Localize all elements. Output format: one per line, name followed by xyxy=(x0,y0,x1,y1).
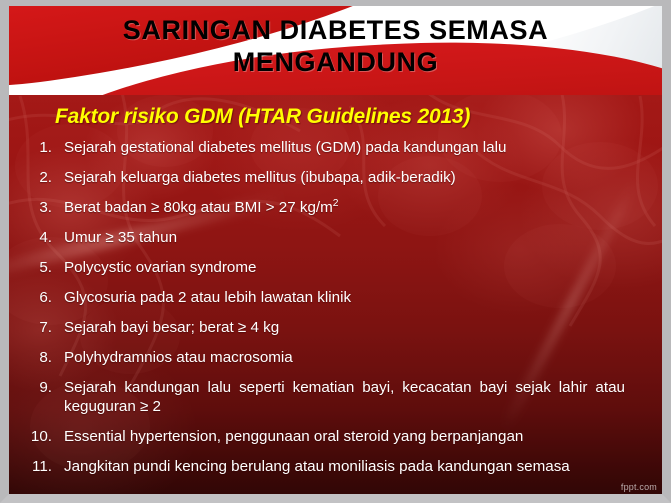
list-item: 2.Sejarah keluarga diabetes mellitus (ib… xyxy=(28,168,643,187)
list-item-text: Glycosuria pada 2 atau lebih lawatan kli… xyxy=(64,288,643,307)
list-item: 9.Sejarah kandungan lalu seperti kematia… xyxy=(28,378,643,416)
list-item-number: 9. xyxy=(28,378,64,397)
list-item-text: Sejarah kandungan lalu seperti kematian … xyxy=(64,378,643,416)
presentation-slide: SARINGAN DIABETES SEMASA MENGANDUNG Fakt… xyxy=(0,0,671,503)
list-item-number: 11. xyxy=(28,457,64,476)
risk-factor-list: 1.Sejarah gestational diabetes mellitus … xyxy=(0,138,671,476)
list-item: 10.Essential hypertension, penggunaan or… xyxy=(28,427,643,446)
list-item: 8.Polyhydramnios atau macrosomia xyxy=(28,348,643,367)
list-item: 7.Sejarah bayi besar; berat ≥ 4 kg xyxy=(28,318,643,337)
list-item-text: Polyhydramnios atau macrosomia xyxy=(64,348,643,367)
slide-content: Faktor risiko GDM (HTAR Guidelines 2013)… xyxy=(0,104,671,487)
list-item: 1.Sejarah gestational diabetes mellitus … xyxy=(28,138,643,157)
list-item: 3.Berat badan ≥ 80kg atau BMI > 27 kg/m2 xyxy=(28,198,643,217)
list-item-number: 3. xyxy=(28,198,64,217)
list-item-number: 10. xyxy=(28,427,64,446)
list-item-number: 6. xyxy=(28,288,64,307)
list-item-number: 4. xyxy=(28,228,64,247)
list-item-text: Jangkitan pundi kencing berulang atau mo… xyxy=(64,457,643,476)
list-item-text: Sejarah gestational diabetes mellitus (G… xyxy=(64,138,643,157)
list-item: 11.Jangkitan pundi kencing berulang atau… xyxy=(28,457,643,476)
list-item-text: Umur ≥ 35 tahun xyxy=(64,228,643,247)
list-item-number: 7. xyxy=(28,318,64,337)
list-item-text: Berat badan ≥ 80kg atau BMI > 27 kg/m2 xyxy=(64,198,643,217)
list-item-number: 2. xyxy=(28,168,64,187)
watermark-label: fppt.com xyxy=(621,482,657,492)
superscript: 2 xyxy=(333,198,339,209)
list-item-number: 8. xyxy=(28,348,64,367)
list-item-text: Polycystic ovarian syndrome xyxy=(64,258,643,277)
list-item-text: Sejarah bayi besar; berat ≥ 4 kg xyxy=(64,318,643,337)
content-subtitle: Faktor risiko GDM (HTAR Guidelines 2013) xyxy=(55,104,671,130)
list-item-number: 1. xyxy=(28,138,64,157)
list-item: 6.Glycosuria pada 2 atau lebih lawatan k… xyxy=(28,288,643,307)
list-item-text: Essential hypertension, penggunaan oral … xyxy=(64,427,643,446)
list-item: 4.Umur ≥ 35 tahun xyxy=(28,228,643,247)
slide-title: SARINGAN DIABETES SEMASA MENGANDUNG xyxy=(0,14,671,78)
list-item: 5.Polycystic ovarian syndrome xyxy=(28,258,643,277)
list-item-text: Sejarah keluarga diabetes mellitus (ibub… xyxy=(64,168,643,187)
list-item-number: 5. xyxy=(28,258,64,277)
